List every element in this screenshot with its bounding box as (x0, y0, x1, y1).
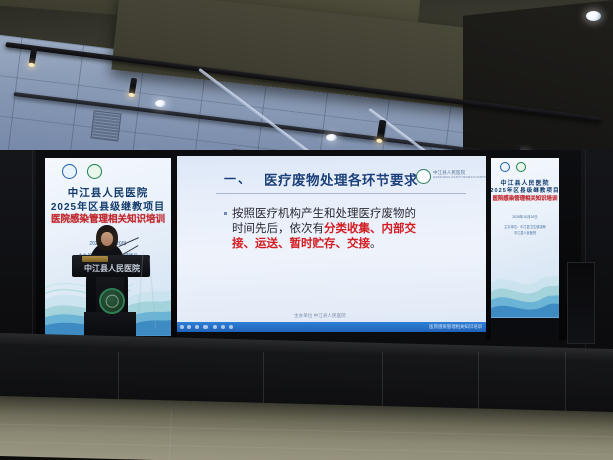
app-icon-3[interactable] (229, 325, 233, 329)
ceiling-downlight-3 (326, 134, 337, 141)
right-wall-upper (463, 0, 613, 175)
right-banner-title-line2: 2025年区县级继教项目 (490, 186, 560, 194)
stage-panel-seam-4 (478, 352, 479, 414)
slide-body-line3: 接、运送、暂时贮存、交接。 (232, 235, 382, 251)
slide-body-line2: 时间先后，依次有分类收集、内部交 (232, 220, 416, 236)
ceiling-downlight-1 (155, 100, 166, 107)
stage-panel-seam-3 (382, 352, 383, 414)
slide-body-line1: 按照医疗机构产生和处理医疗废物的 (232, 205, 416, 221)
left-banner-logos (62, 164, 102, 179)
edge-icon[interactable] (195, 325, 199, 329)
stage-panel-seam-5 (565, 352, 566, 414)
banner-wave-graphic-right (490, 244, 560, 318)
slide-body-line2-highlight: 分类收集、内部交 (324, 223, 416, 235)
right-banner-organizer-line2: 中江县人民医院 (490, 230, 560, 235)
app-icon-2[interactable] (221, 325, 225, 329)
right-banner-date: 2025年10月20日 (490, 214, 560, 219)
led-wall-left-pillar (36, 150, 45, 340)
slide-corner-logo-subtext: ZHONGJIANG COUNTY PEOPLE'S HOSPITAL (433, 176, 486, 179)
stage-doorway (567, 262, 595, 344)
podium-nameplate-text: 中江县人民医院 (76, 263, 148, 274)
led-wall-mid-pillar-right (486, 150, 491, 340)
slide-title: 医疗废物处理各环节要求 (264, 169, 418, 189)
speaker-face (101, 232, 113, 246)
ceiling (0, 0, 613, 175)
slide-bullet-marker (224, 212, 227, 215)
app-icon-1[interactable] (213, 325, 217, 329)
right-banner-panel: 中江县人民医院 2025年区县级继教项目 医院感染管理相关知识培训 2025年1… (490, 158, 560, 318)
explorer-icon[interactable] (203, 325, 208, 329)
slide-body-line2-plain: 时间先后，依次有 (232, 223, 324, 235)
presentation-screen[interactable]: 一、 医疗废物处理各环节要求 中江县人民医院 ZHONGJIANG COUNTY… (176, 156, 486, 332)
right-banner-organizer-line1: 主办单位：中江县卫生健康局 (490, 224, 560, 229)
slide-body-line3-highlight: 接、运送、暂时贮存、交接 (232, 238, 370, 250)
slide-section-number: 一、 (224, 170, 252, 187)
right-banner-logos (500, 162, 526, 172)
left-banner-title-line3: 医院感染管理相关知识培训 (44, 211, 172, 225)
right-banner-title-line3: 医院感染管理相关知识培训 (490, 194, 560, 202)
hospital-emblem-green-icon-right (516, 162, 526, 172)
hospital-emblem-green-icon (87, 164, 102, 179)
hospital-emblem-blue-icon (62, 164, 77, 179)
windows-taskbar[interactable]: 医院感染管理相关知识培训 (176, 322, 486, 332)
start-icon[interactable] (180, 325, 184, 329)
podium-nameplate-strip (82, 256, 108, 262)
hospital-emblem-blue-icon-right (500, 162, 510, 172)
ceiling-downlight-6 (586, 11, 601, 21)
slide-corner-hospital-logo-icon (416, 169, 431, 184)
slide-title-underline (216, 193, 466, 194)
led-wall-mid-pillar-left (171, 150, 177, 340)
search-icon[interactable] (187, 325, 191, 329)
conference-hall-scene: 中江县人民医院 2025年区县级继教项目 医院感染管理相关知识培训 2025年1… (0, 0, 613, 460)
podium-crest-icon (99, 288, 125, 314)
air-vent-1 (90, 110, 121, 141)
slide-body-line3-tail: 。 (370, 238, 382, 250)
slide-footer: 主办单位 中江县人民医院 (294, 313, 346, 319)
taskbar-right-text: 医院感染管理相关知识培训 (429, 324, 482, 330)
